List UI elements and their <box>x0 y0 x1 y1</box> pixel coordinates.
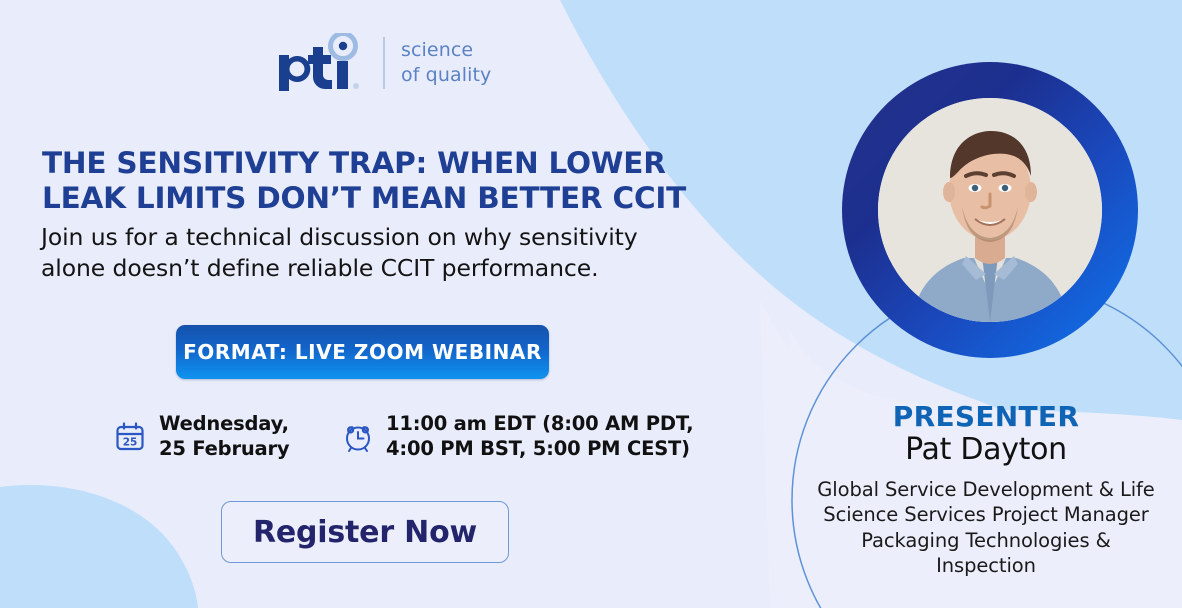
presenter-photo-ring <box>842 62 1138 358</box>
presenter-title-line4: Inspection <box>788 553 1182 578</box>
event-time-line1: 11:00 am EDT (8:00 AM PDT, <box>386 412 693 437</box>
format-badge[interactable]: FORMAT: LIVE ZOOM WEBINAR <box>176 325 549 379</box>
calendar-icon-day: 25 <box>123 436 138 448</box>
brand-logo: science of quality <box>275 33 491 93</box>
event-date-text: Wednesday, 25 February <box>159 412 289 462</box>
register-now-label: Register Now <box>253 515 477 550</box>
avatar <box>878 98 1102 322</box>
event-time: 11:00 am EDT (8:00 AM PDT, 4:00 PM BST, … <box>341 412 693 462</box>
presenter-title: Global Service Development & Life Scienc… <box>788 477 1182 578</box>
presenter-title-line2: Science Services Project Manager <box>788 502 1182 527</box>
event-details: 25 Wednesday, 25 February 11:00 am EDT (… <box>113 412 693 462</box>
page-subtitle: Join us for a technical discussion on wh… <box>41 222 721 285</box>
logo-tagline: science of quality <box>383 37 491 89</box>
pti-logo-mark <box>275 33 367 93</box>
format-badge-label: FORMAT: LIVE ZOOM WEBINAR <box>183 340 542 364</box>
event-date: 25 Wednesday, 25 February <box>113 412 341 462</box>
presenter-section-label: PRESENTER <box>790 400 1182 433</box>
page-subtitle-line2: alone doesn’t define reliable CCIT perfo… <box>41 253 721 284</box>
event-date-line2: 25 February <box>159 437 289 462</box>
page-subtitle-line1: Join us for a technical discussion on wh… <box>41 222 721 253</box>
register-now-button[interactable]: Register Now <box>221 501 509 563</box>
alarm-clock-icon <box>341 420 375 454</box>
event-time-line2: 4:00 PM BST, 5:00 PM CEST) <box>386 437 693 462</box>
page-title-line2: LEAK LIMITS DON’T MEAN BETTER CCIT <box>42 181 702 216</box>
page-title: THE SENSITIVITY TRAP: WHEN LOWER LEAK LI… <box>42 146 702 216</box>
presenter-name: Pat Dayton <box>790 432 1182 467</box>
presenter-title-line1: Global Service Development & Life <box>788 477 1182 502</box>
page-title-line1: THE SENSITIVITY TRAP: WHEN LOWER <box>42 146 702 181</box>
calendar-icon: 25 <box>113 420 147 454</box>
logo-tagline-line2: of quality <box>401 63 491 88</box>
presenter-title-line3: Packaging Technologies & <box>788 528 1182 553</box>
event-time-text: 11:00 am EDT (8:00 AM PDT, 4:00 PM BST, … <box>386 412 693 462</box>
event-date-line1: Wednesday, <box>159 412 289 437</box>
logo-tagline-line1: science <box>401 38 491 63</box>
